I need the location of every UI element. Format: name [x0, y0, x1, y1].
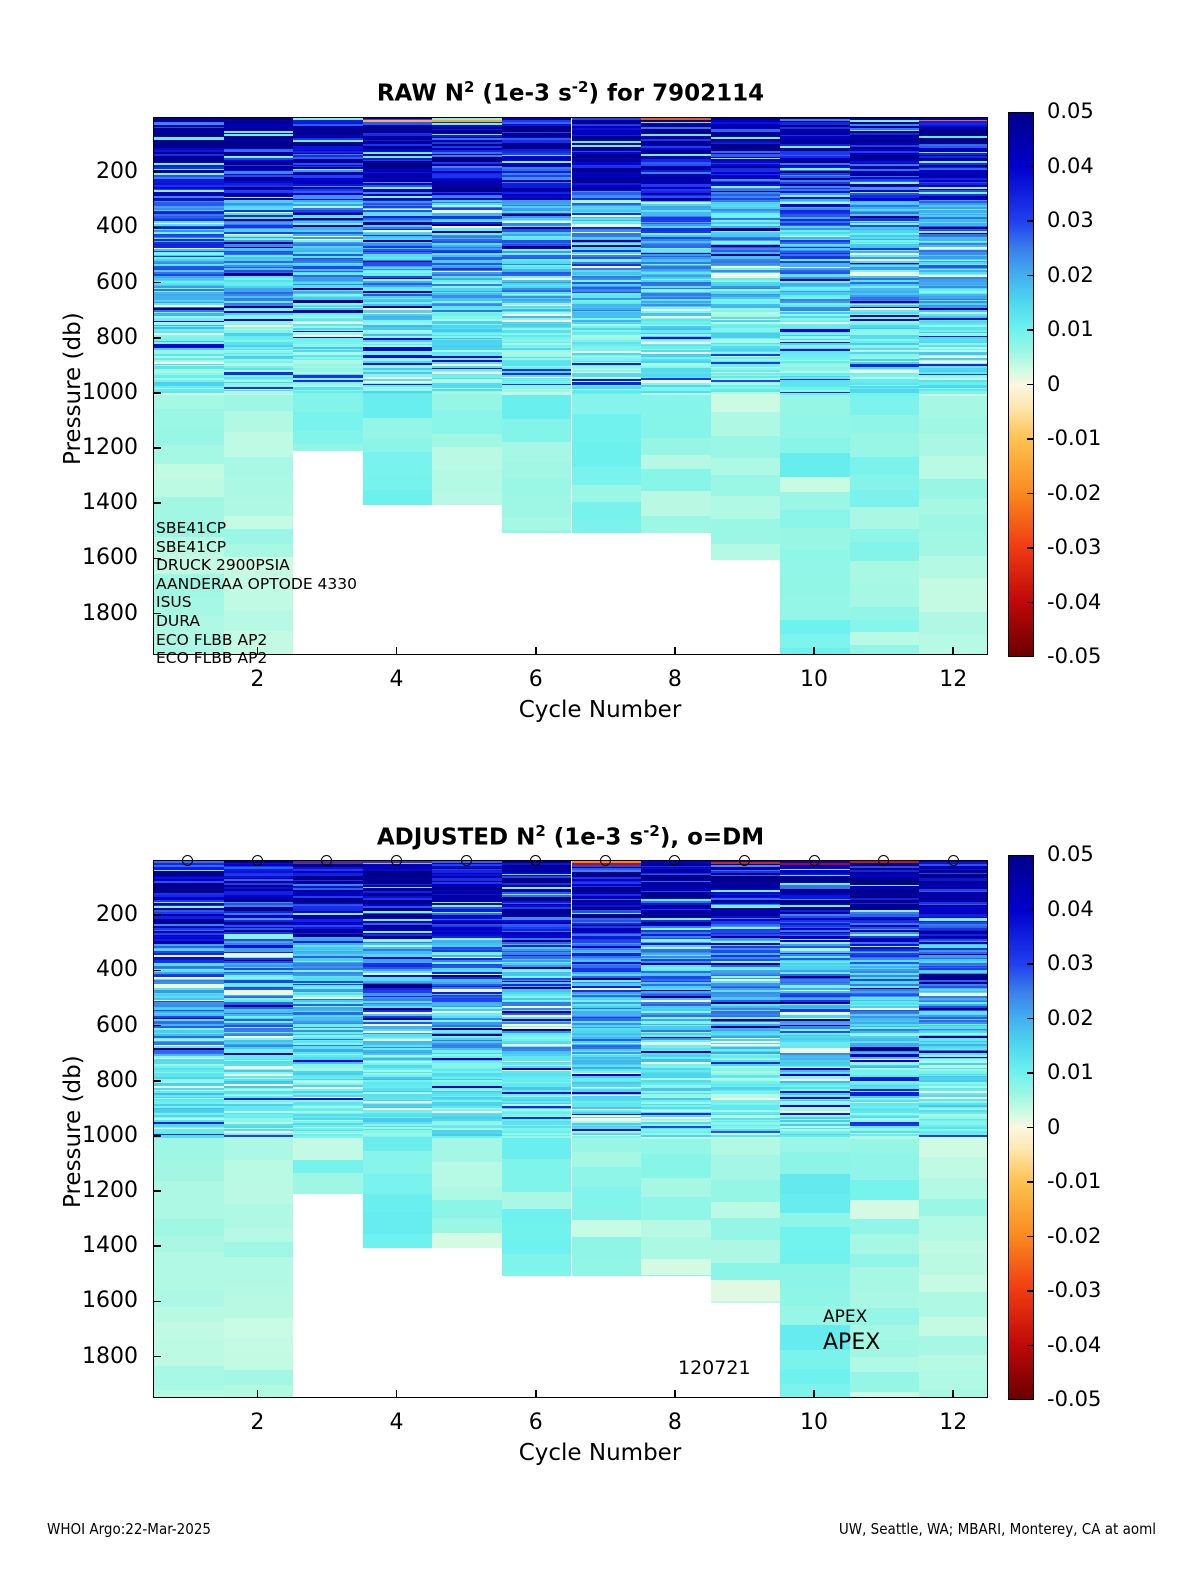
heatmap-band: [224, 1385, 294, 1397]
dm-cycle-marker: [600, 855, 611, 866]
y-tick-label: 800: [38, 327, 138, 349]
heatmap-band: [224, 1228, 294, 1243]
heatmap-band: [919, 556, 988, 579]
colorbar-tick-mark: [1027, 166, 1034, 168]
heatmap-band: [154, 1270, 224, 1290]
heatmap-column: [711, 118, 781, 654]
sensor-label: SBE41CP: [156, 519, 357, 538]
y-tick-mark: [153, 447, 161, 449]
heatmap-band: [572, 485, 642, 503]
sensor-label: ISUS: [156, 593, 357, 612]
heatmap-band: [850, 561, 920, 585]
colorbar-tick-mark: [1027, 493, 1034, 495]
heatmap-band: [502, 442, 572, 462]
y-tick-label: 400: [38, 959, 138, 981]
heatmap-band: [919, 456, 988, 480]
heatmap-band: [919, 1157, 988, 1179]
heatmap-band: [919, 499, 988, 515]
heatmap-band: [850, 607, 920, 620]
heatmap-band: [641, 438, 711, 456]
colorbar-tick-label: -0.02: [1047, 1226, 1101, 1247]
heatmap-band: [919, 1317, 988, 1336]
heatmap-band: [711, 519, 781, 544]
heatmap-band: [919, 578, 988, 595]
colorbar-tick-mark: [1027, 909, 1034, 911]
dm-cycle-marker: [391, 855, 402, 866]
heatmap-band: [432, 434, 502, 447]
heatmap-band: [363, 1174, 433, 1195]
heatmap-band: [572, 1259, 642, 1276]
x-tick-label: 10: [774, 1412, 854, 1434]
heatmap-band: [780, 395, 850, 417]
colorbar-tick-mark: [1027, 1345, 1034, 1347]
x-tick-label: 6: [496, 1412, 576, 1434]
y-tick-mark: [153, 970, 161, 972]
heatmap-band: [572, 414, 642, 430]
footer-right-credit: UW, Seattle, WA; MBARI, Monterey, CA at …: [839, 1520, 1156, 1538]
heatmap-band: [711, 1240, 781, 1263]
heatmap-column: [850, 118, 920, 654]
colorbar-tick-mark: [1027, 384, 1034, 386]
heatmap-band: [919, 1178, 988, 1200]
colorbar-tick-label: 0.01: [1047, 1062, 1094, 1083]
heatmap-band: [154, 1354, 224, 1367]
adjusted-wmo-aux-label: 120721: [678, 1357, 751, 1379]
colorbar-tick-mark: [1027, 1127, 1034, 1129]
heatmap-band: [432, 1162, 502, 1187]
y-tick-mark: [153, 1025, 161, 1027]
heatmap-column: [641, 118, 711, 654]
colorbar-tick-label: 0.01: [1047, 319, 1094, 340]
heatmap-column: [363, 861, 433, 1397]
colorbar-tick-label: 0.03: [1047, 953, 1094, 974]
y-tick-label: 1400: [38, 1235, 138, 1257]
dm-cycle-marker: [948, 855, 959, 866]
heatmap-band: [154, 1322, 224, 1340]
heatmap-band: [502, 495, 572, 517]
heatmap-band: [711, 475, 781, 497]
y-tick-label: 1600: [38, 1290, 138, 1312]
heatmap-band: [919, 417, 988, 434]
adj-title-mid: (1e-3 s: [546, 825, 643, 851]
sensor-label: ECO FLBB AP2: [156, 631, 357, 650]
colorbar-tick-label: -0.03: [1047, 1280, 1101, 1301]
y-tick-mark: [153, 1080, 161, 1082]
heatmap-band: [919, 533, 988, 557]
heatmap-band: [154, 464, 224, 479]
heatmap-band: [154, 1339, 224, 1354]
heatmap-column: [432, 118, 502, 654]
adj-title-sup2: -2: [643, 822, 660, 840]
heatmap-band: [919, 594, 988, 613]
heatmap-band: [711, 1155, 781, 1180]
x-tick-mark: [813, 647, 815, 655]
heatmap-band: [919, 396, 988, 418]
heatmap-band: [432, 1233, 502, 1248]
heatmap-band: [224, 1242, 294, 1258]
heatmap-band: [850, 1357, 920, 1372]
heatmap-band: [850, 396, 920, 415]
heatmap-band: [780, 438, 850, 453]
heatmap-band: [641, 1275, 711, 1276]
heatmap-band: [572, 443, 642, 468]
heatmap-band: [502, 1177, 572, 1192]
heatmap-column: [780, 118, 850, 654]
colorbar-tick-mark: [1027, 963, 1034, 965]
colorbar-tick-mark: [1027, 1181, 1034, 1183]
y-tick-label: 1400: [38, 492, 138, 514]
y-tick-label: 800: [38, 1070, 138, 1092]
heatmap-band: [850, 529, 920, 543]
heatmap-band: [154, 1199, 224, 1220]
heatmap-band: [919, 1216, 988, 1241]
heatmap-column: [154, 861, 224, 1397]
heatmap-band: [641, 455, 711, 469]
heatmap-band: [572, 394, 642, 414]
x-tick-label: 2: [217, 669, 297, 691]
y-tick-label: 1800: [38, 1346, 138, 1368]
heatmap-band: [154, 1390, 224, 1398]
colorbar-tick-mark: [1027, 602, 1034, 604]
heatmap-band: [641, 469, 711, 492]
colorbar-tick-label: -0.03: [1047, 537, 1101, 558]
heatmap-band: [572, 1237, 642, 1259]
heatmap-band: [919, 1254, 988, 1275]
heatmap-band: [919, 1336, 988, 1356]
heatmap-band: [502, 1272, 572, 1275]
colorbar-tick-mark: [1027, 329, 1034, 331]
y-tick-mark: [153, 227, 161, 229]
raw-x-axis-label: Cycle Number: [0, 697, 1200, 723]
adjusted-y-axis-label: Pressure (db): [60, 1055, 86, 1208]
heatmap-band: [919, 1369, 988, 1389]
heatmap-band: [293, 1173, 363, 1194]
heatmap-band: [850, 1200, 920, 1219]
colorbar-tick-label: 0.04: [1047, 156, 1094, 177]
heatmap-band: [780, 1250, 850, 1264]
colorbar-tick-label: -0.05: [1047, 1389, 1101, 1410]
y-tick-label: 200: [38, 904, 138, 926]
heatmap-band: [363, 476, 433, 491]
heatmap-band: [432, 470, 502, 494]
raw-title-sup2: -2: [572, 78, 589, 96]
sensor-label: DURA: [156, 612, 357, 631]
y-tick-label: 200: [38, 161, 138, 183]
colorbar-tick-mark: [1027, 1236, 1034, 1238]
heatmap-band: [432, 1138, 502, 1163]
heatmap-band: [711, 1218, 781, 1241]
heatmap-column: [711, 861, 781, 1397]
heatmap-band: [641, 1220, 711, 1238]
heatmap-band: [780, 573, 850, 597]
adj-title-sup1: 2: [535, 822, 545, 840]
y-tick-mark: [153, 1190, 161, 1192]
heatmap-band: [850, 1372, 920, 1393]
sensor-label: ECO FLBB AP2: [156, 649, 357, 668]
heatmap-band: [850, 490, 920, 508]
heatmap-band: [780, 1369, 850, 1385]
y-tick-mark: [153, 392, 161, 394]
y-tick-label: 1200: [38, 437, 138, 459]
heatmap-band: [224, 1257, 294, 1282]
heatmap-column: [224, 861, 294, 1397]
adj-title-post: ), o=DM: [660, 825, 764, 851]
x-tick-mark: [674, 1390, 676, 1398]
heatmap-band: [502, 1159, 572, 1178]
adjusted-platform-label-small: APEX: [823, 1307, 867, 1327]
heatmap-band: [293, 1160, 363, 1174]
heatmap-band: [154, 1159, 224, 1182]
x-tick-label: 10: [774, 669, 854, 691]
heatmap-band: [780, 510, 850, 529]
heatmap-band: [363, 1212, 433, 1234]
heatmap-band: [919, 1137, 988, 1157]
x-tick-mark: [396, 647, 398, 655]
heatmap-band: [572, 467, 642, 487]
heatmap-band: [572, 1138, 642, 1153]
y-tick-label: 1000: [38, 382, 138, 404]
heatmap-band: [224, 1337, 294, 1353]
heatmap-band: [780, 1264, 850, 1287]
heatmap-band: [363, 394, 433, 419]
heatmap-band: [850, 1234, 920, 1255]
heatmap-band: [432, 447, 502, 471]
heatmap-band: [641, 416, 711, 439]
heatmap-band: [711, 1301, 781, 1303]
heatmap-band: [850, 415, 920, 434]
heatmap-band: [224, 1204, 294, 1228]
colorbar-tick-label: 0.03: [1047, 210, 1094, 231]
heatmap-band: [711, 1263, 781, 1281]
y-tick-label: 1000: [38, 1125, 138, 1147]
heatmap-band: [154, 395, 224, 410]
x-tick-label: 4: [357, 669, 437, 691]
heatmap-band: [363, 1194, 433, 1213]
heatmap-band: [850, 1168, 920, 1181]
y-tick-mark: [153, 1135, 161, 1137]
heatmap-band: [711, 436, 781, 458]
x-tick-mark: [952, 647, 954, 655]
heatmap-band: [224, 432, 294, 457]
heatmap-band: [919, 1355, 988, 1370]
heatmap-band: [502, 1241, 572, 1255]
heatmap-band: [641, 516, 711, 533]
y-tick-label: 1600: [38, 547, 138, 569]
y-tick-mark: [153, 337, 161, 339]
heatmap-band: [919, 1275, 988, 1293]
heatmap-band: [711, 412, 781, 437]
colorbar-tick-label: 0.05: [1047, 844, 1094, 865]
dm-cycle-marker: [461, 855, 472, 866]
colorbar-tick-mark: [1027, 1072, 1034, 1074]
heatmap-band: [432, 493, 502, 505]
heatmap-band: [224, 457, 294, 475]
heatmap-band: [154, 409, 224, 430]
heatmap-band: [502, 517, 572, 532]
heatmap-band: [224, 1318, 294, 1338]
heatmap-band: [850, 620, 920, 634]
heatmap-band: [919, 1292, 988, 1317]
heatmap-band: [850, 645, 920, 654]
heatmap-band: [850, 433, 920, 457]
y-tick-label: 1200: [38, 1180, 138, 1202]
y-tick-label: 1800: [38, 603, 138, 625]
heatmap-band: [154, 479, 224, 498]
heatmap-band: [780, 550, 850, 573]
colorbar-tick-label: 0: [1047, 374, 1060, 395]
heatmap-band: [711, 544, 781, 560]
x-tick-mark: [674, 647, 676, 655]
heatmap-band: [154, 1307, 224, 1322]
heatmap-band: [502, 461, 572, 479]
heatmap-band: [363, 418, 433, 439]
footer-left-credit: WHOI Argo:22-Mar-2025: [47, 1520, 211, 1538]
heatmap-band: [850, 584, 920, 607]
heatmap-column: [919, 118, 988, 654]
heatmap-band: [780, 648, 850, 654]
heatmap-band: [780, 596, 850, 621]
heatmap-band: [432, 394, 502, 410]
heatmap-band: [432, 1200, 502, 1219]
heatmap-band: [502, 1225, 572, 1242]
heatmap-band: [572, 1152, 642, 1168]
heatmap-band: [502, 1192, 572, 1210]
colorbar-tick-mark: [1027, 547, 1034, 549]
heatmap-column: [572, 118, 642, 654]
heatmap-band: [502, 530, 572, 532]
x-tick-label: 6: [496, 669, 576, 691]
heatmap-band: [641, 395, 711, 416]
heatmap-band: [293, 395, 363, 413]
heatmap-band: [154, 1252, 224, 1271]
adjusted-plot-title: ADJUSTED N2 (1e-3 s-2), o=DM: [153, 822, 988, 851]
heatmap-band: [641, 491, 711, 516]
heatmap-band: [780, 1174, 850, 1195]
heatmap-band: [711, 1139, 781, 1156]
x-tick-label: 8: [635, 1412, 715, 1434]
x-tick-mark: [535, 1390, 537, 1398]
heatmap-band: [711, 458, 781, 476]
heatmap-band: [432, 410, 502, 435]
sensor-label: AANDERAA OPTODE 4330: [156, 575, 357, 594]
heatmap-band: [850, 457, 920, 476]
heatmap-column: [293, 861, 363, 1397]
heatmap-band: [224, 1295, 294, 1318]
sensor-label: SBE41CP: [156, 538, 357, 557]
heatmap-band: [572, 502, 642, 519]
heatmap-band: [711, 394, 781, 412]
y-tick-mark: [153, 282, 161, 284]
heatmap-band: [363, 1137, 433, 1151]
heatmap-band: [780, 492, 850, 511]
raw-title-post: ) for 7902114: [588, 81, 764, 107]
x-tick-label: 4: [357, 1412, 437, 1434]
colorbar-tick-label: -0.02: [1047, 483, 1101, 504]
y-tick-mark: [153, 1245, 161, 1247]
colorbar-tick-mark: [1027, 438, 1034, 440]
y-tick-label: 600: [38, 1015, 138, 1037]
heatmap-band: [711, 1280, 781, 1302]
heatmap-band: [850, 1180, 920, 1200]
heatmap-band: [363, 1151, 433, 1175]
heatmap-band: [780, 1384, 850, 1397]
heatmap-band: [850, 475, 920, 490]
heatmap-band: [780, 1194, 850, 1213]
heatmap-band: [432, 1218, 502, 1233]
heatmap-band: [780, 1213, 850, 1228]
heatmap-band: [572, 1167, 642, 1188]
heatmap-band: [224, 1352, 294, 1370]
dm-cycle-marker: [809, 855, 820, 866]
heatmap-column: [432, 861, 502, 1397]
heatmap-column: [502, 118, 572, 654]
heatmap-band: [850, 542, 920, 561]
y-tick-mark: [153, 502, 161, 504]
heatmap-band: [919, 515, 988, 534]
heatmap-band: [293, 431, 363, 444]
heatmap-band: [154, 1138, 224, 1160]
heatmap-band: [850, 1219, 920, 1235]
colorbar-tick-label: 0: [1047, 1117, 1060, 1138]
heatmap-band: [502, 395, 572, 420]
heatmap-band: [780, 453, 850, 477]
raw-plot-title: RAW N2 (1e-3 s-2) for 7902114: [153, 78, 988, 107]
heatmap-band: [224, 1137, 294, 1160]
colorbar-tick-mark: [1027, 1290, 1034, 1292]
adj-title-pre: ADJUSTED N: [377, 825, 535, 851]
heatmap-band: [363, 439, 433, 453]
sensor-label: DRUCK 2900PSIA: [156, 556, 357, 575]
heatmap-band: [780, 634, 850, 648]
x-tick-mark: [813, 1390, 815, 1398]
colorbar-tick-label: -0.04: [1047, 592, 1101, 613]
x-tick-label: 12: [913, 1412, 993, 1434]
heatmap-band: [293, 444, 363, 451]
heatmap-band: [502, 479, 572, 496]
heatmap-band: [850, 507, 920, 530]
y-tick-mark: [153, 1301, 161, 1303]
heatmap-band: [641, 1259, 711, 1275]
raw-y-axis-label: Pressure (db): [60, 312, 86, 465]
heatmap-band: [572, 430, 642, 444]
heatmap-band: [780, 1287, 850, 1307]
heatmap-band: [363, 490, 433, 505]
y-tick-mark: [153, 914, 161, 916]
heatmap-band: [224, 411, 294, 433]
heatmap-column: [502, 861, 572, 1397]
heatmap-band: [850, 1254, 920, 1268]
heatmap-band: [919, 1199, 988, 1217]
heatmap-band: [711, 496, 781, 520]
heatmap-band: [850, 1392, 920, 1397]
heatmap-band: [363, 1234, 433, 1248]
raw-title-mid: (1e-3 s: [474, 81, 571, 107]
x-tick-mark: [257, 1390, 259, 1398]
heatmap-band: [780, 528, 850, 550]
dm-cycle-marker: [252, 855, 263, 866]
heatmap-band: [641, 1178, 711, 1197]
raw-title-pre: RAW N: [377, 81, 464, 107]
heatmap-band: [154, 1181, 224, 1199]
heatmap-band: [224, 474, 294, 499]
colorbar-tick-label: 0.02: [1047, 1008, 1094, 1029]
heatmap-band: [363, 452, 433, 477]
heatmap-band: [154, 445, 224, 464]
x-tick-mark: [535, 647, 537, 655]
heatmap-band: [502, 419, 572, 443]
colorbar-tick-label: -0.01: [1047, 1171, 1101, 1192]
heatmap-band: [919, 479, 988, 500]
